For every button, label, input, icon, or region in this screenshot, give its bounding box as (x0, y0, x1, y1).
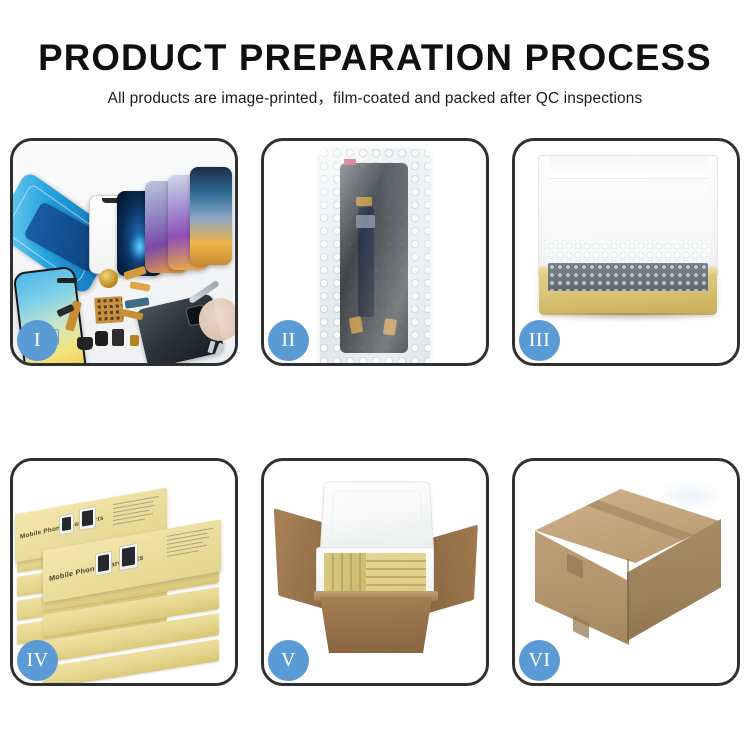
bubble-wrapped-contents (548, 263, 708, 291)
box-shadow (541, 313, 717, 323)
lcd-screen-teal (190, 167, 232, 265)
camera-module-part (95, 331, 108, 346)
header: PRODUCT PREPARATION PROCESS All products… (0, 36, 750, 109)
process-step-3[interactable]: III (512, 138, 740, 366)
small-connector-part (130, 335, 139, 346)
process-step-2[interactable]: II (261, 138, 489, 366)
screen-artwork (79, 506, 96, 531)
step-badge-5: V (268, 640, 309, 681)
step-badge-2: II (268, 320, 309, 361)
carton-corner-seam (627, 559, 629, 641)
yellow-boxes-inside-left (324, 553, 366, 595)
process-step-1[interactable]: I (10, 138, 238, 366)
buzzer-part (77, 337, 93, 350)
screen-artwork (95, 551, 112, 577)
carton-front-panel (320, 597, 432, 653)
battery-part (112, 329, 124, 346)
bubble-wrap-package (320, 149, 430, 363)
step-badge-4: IV (17, 640, 58, 681)
box-spec-lines (167, 528, 213, 564)
page-subtitle: All products are image-printed，film-coat… (0, 89, 750, 109)
screen-artwork (119, 543, 138, 571)
step-badge-3: III (519, 320, 560, 361)
foam-box-lid (320, 482, 435, 554)
earpiece-part (57, 278, 77, 283)
box-spec-lines (113, 496, 159, 532)
process-step-6[interactable]: VI (512, 458, 740, 686)
step-badge-6: VI (519, 640, 560, 681)
process-step-5[interactable]: V (261, 458, 489, 686)
step-badge-1: I (17, 320, 58, 361)
page-title: PRODUCT PREPARATION PROCESS (4, 36, 747, 80)
speaker-part (99, 269, 118, 288)
screen-artwork (59, 513, 74, 536)
product-preparation-infographic: PRODUCT PREPARATION PROCESS All products… (0, 0, 750, 750)
chip-grid-part (94, 296, 124, 324)
process-step-grid: I II (10, 138, 740, 678)
plastic-gloss (320, 149, 430, 363)
process-step-4[interactable]: Mobile Phone Spare Parts Mobile Phone Sp… (10, 458, 238, 686)
